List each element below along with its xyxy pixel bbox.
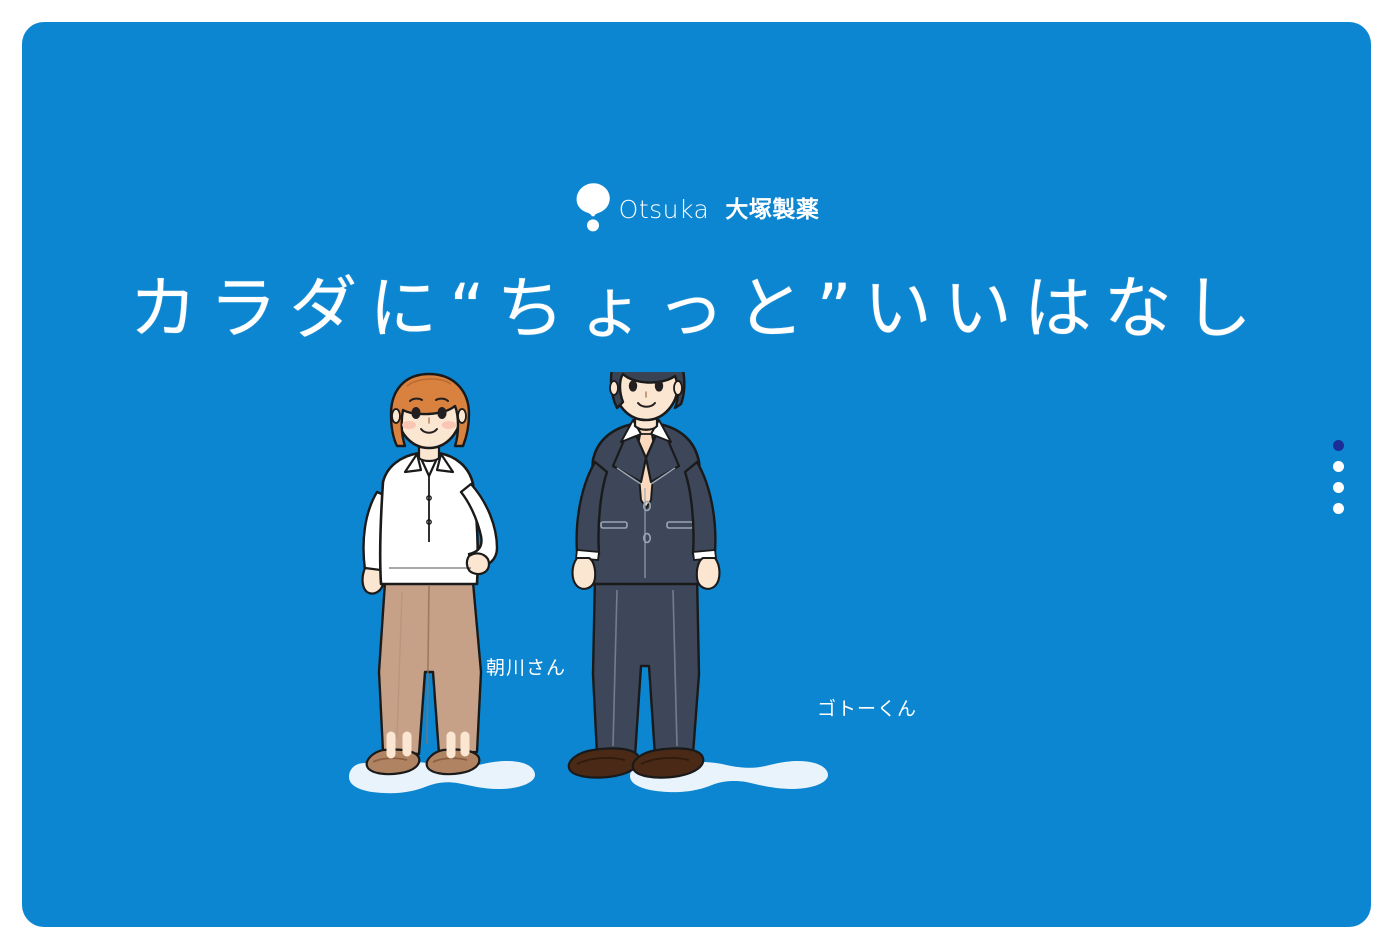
page-root: Otsuka 大塚製薬 カラダに“ちょっと”いいはなし	[0, 0, 1393, 952]
character-caption-female: 朝川さん	[486, 653, 566, 680]
character-female	[362, 374, 496, 774]
slide-pagination-dots[interactable]	[1333, 440, 1344, 514]
page-title: カラダに“ちょっと”いいはなし	[22, 274, 1371, 345]
brand-name-en: Otsuka	[619, 197, 710, 222]
slide-dot-4[interactable]	[1333, 503, 1344, 514]
otsuka-droplet-logo-icon	[574, 182, 612, 232]
hero-panel: Otsuka 大塚製薬 カラダに“ちょっと”いいはなし	[22, 22, 1371, 927]
character-male	[568, 372, 719, 778]
characters-illustration	[22, 372, 1371, 812]
character-caption-male: ゴトーくん	[817, 694, 917, 721]
brand-name-ja: 大塚製薬	[725, 198, 819, 221]
slide-dot-3[interactable]	[1333, 482, 1344, 493]
slide-dot-2[interactable]	[1333, 461, 1344, 472]
slide-dot-1[interactable]	[1333, 440, 1344, 451]
brand-logo-lockup[interactable]: Otsuka 大塚製薬	[22, 182, 1371, 232]
